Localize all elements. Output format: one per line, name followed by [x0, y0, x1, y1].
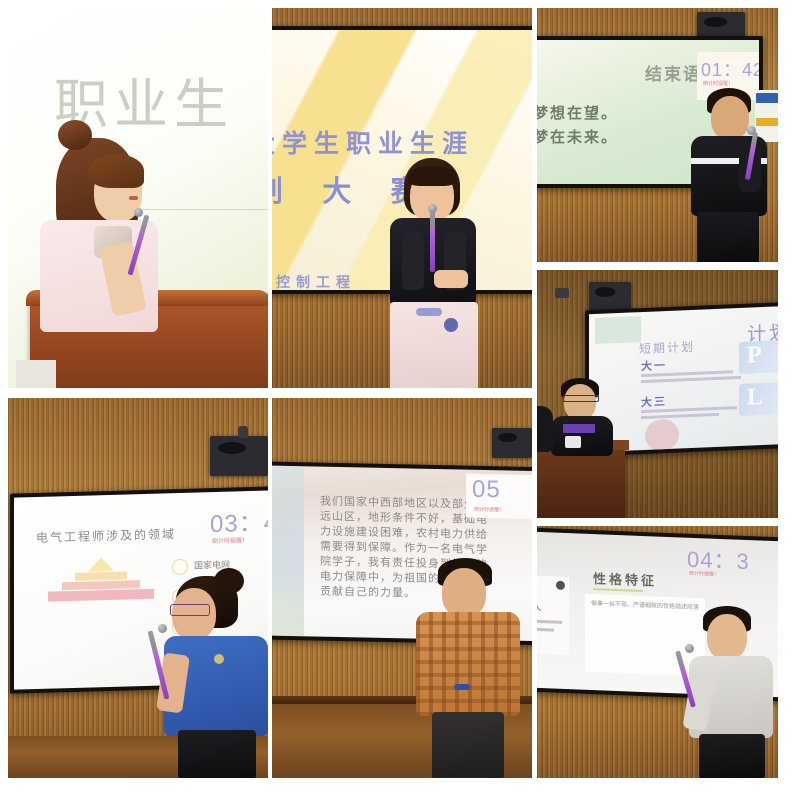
photo-top-left[interactable]: 职业生 [8, 8, 268, 388]
slide-card-1-letter: P [747, 342, 762, 370]
hair-bun [214, 568, 244, 594]
slide-deco-rose [645, 419, 679, 452]
microphone-head [747, 126, 756, 135]
speaker-person [158, 568, 268, 778]
camera-mount [555, 288, 569, 298]
countdown-note: 倒计时提醒！ [212, 535, 248, 545]
shirt-graphic-2 [565, 436, 581, 448]
photo-middle-right[interactable]: 计划 短期计划 大一 大三 P L [537, 270, 778, 518]
trousers [178, 730, 256, 778]
face [564, 384, 596, 420]
torso-shirt [551, 416, 613, 456]
trousers-logo [444, 318, 458, 332]
trousers [697, 212, 759, 262]
slide-heading: 性格特征 [593, 568, 657, 589]
photo-bottom-middle[interactable]: 我们国家中西部地区以及部分偏远山区，地形条件不好，基础电力设施建设困难，农村电力… [272, 398, 532, 778]
countdown-timer: 03：4 [210, 502, 268, 539]
trousers [432, 712, 504, 778]
slide-card-2-letter: L [747, 384, 763, 412]
face [707, 614, 747, 660]
slide-section-title: 短期计划 [639, 338, 695, 357]
ceiling-speaker [492, 428, 532, 458]
photo-collage: 职业生 大学生职业生涯 划 大 赛 与控制工程 [0, 0, 790, 790]
microphone-head [685, 644, 694, 653]
pyramid-tier-2 [75, 571, 127, 580]
torso-plaid-shirt [416, 612, 520, 716]
microphone [430, 210, 435, 272]
pyramid-chart [46, 556, 156, 603]
photo-bottom-left[interactable]: 电气工程师涉及的领域 03：4 倒计时提醒！ 国家电网 电力 [8, 398, 268, 778]
slide-side-card: 计划达人 [537, 575, 569, 656]
photo-top-right[interactable]: 结束语 01：42 倒计时提醒！ 来，梦想在望。 们，梦在未来。 [537, 8, 778, 262]
wristband [454, 684, 470, 690]
shirt-graphic [563, 424, 595, 433]
projector-screen: 计划 短期计划 大一 大三 P L [589, 306, 778, 453]
glasses-icon [170, 604, 210, 616]
microphone-head [158, 624, 167, 633]
countdown-timer: 01：42 [701, 56, 759, 82]
lips [129, 196, 138, 200]
forearm-right [434, 270, 468, 288]
hair-bun [58, 120, 92, 150]
glasses-icon [563, 395, 599, 402]
speaker-person [551, 378, 617, 452]
slide-heading: 电气工程师涉及的领域 [36, 525, 176, 546]
countdown-note: 倒计时提醒！ [703, 80, 733, 87]
slide-line1: 来，梦想在望。 [537, 102, 618, 123]
pyramid-tier-1 [88, 557, 114, 572]
slide-card-1: P [739, 339, 778, 374]
fringe [88, 154, 144, 188]
slide-heading: 结束语 [645, 60, 702, 85]
photo-bottom-right[interactable]: 计划达人 性格特征 做事一丝不苟、严谨细致的性格描述段落 04：3 倒计时提醒！ [537, 526, 778, 778]
fringe [408, 166, 456, 186]
countdown-note: 倒计时提醒！ [689, 570, 719, 578]
face [711, 96, 749, 140]
torso-shirt [537, 406, 553, 452]
microphone-head [428, 204, 437, 213]
pyramid-tier-4 [48, 589, 154, 602]
slide-side-card-title: 计划达人 [537, 599, 541, 613]
slide-item-1: 大一 [641, 357, 667, 374]
slide-line2: 们，梦在未来。 [537, 126, 618, 147]
trousers-script [416, 308, 442, 316]
slide-line1: 大学生职业生涯 [272, 124, 474, 160]
podium-white-box [16, 360, 56, 388]
podium [537, 446, 625, 518]
slide-item-2: 大三 [641, 393, 667, 410]
slide-item-1-body2 [641, 376, 741, 383]
second-person [537, 406, 553, 452]
slide-line3: 与控制工程 [272, 272, 356, 290]
countdown-note: 倒计时提醒！ [474, 506, 504, 514]
photo-top-middle[interactable]: 大学生职业生涯 划 大 赛 与控制工程 [272, 8, 532, 388]
countdown-timer: 05 [472, 476, 501, 505]
speaker-person [32, 116, 172, 326]
speaker-bracket [238, 426, 248, 438]
trousers [699, 734, 765, 778]
speaker-person [687, 88, 773, 262]
arm-left [402, 232, 424, 290]
ceiling-speaker [210, 436, 268, 476]
slide-item-2-body2 [641, 413, 719, 419]
slide-side-card-line2 [537, 627, 554, 632]
close-icon[interactable] [556, 581, 565, 590]
speaker-person [382, 158, 492, 388]
slide-photo-underlay [272, 465, 304, 636]
microphone-head [134, 208, 143, 217]
face [442, 568, 486, 618]
slide-deco-green [595, 316, 641, 344]
shirt-badge [214, 654, 224, 664]
speaker-person [687, 606, 778, 778]
slide-card-2: L [739, 381, 778, 416]
speaker-person [410, 558, 526, 778]
slide-side-card-line1 [537, 619, 562, 624]
